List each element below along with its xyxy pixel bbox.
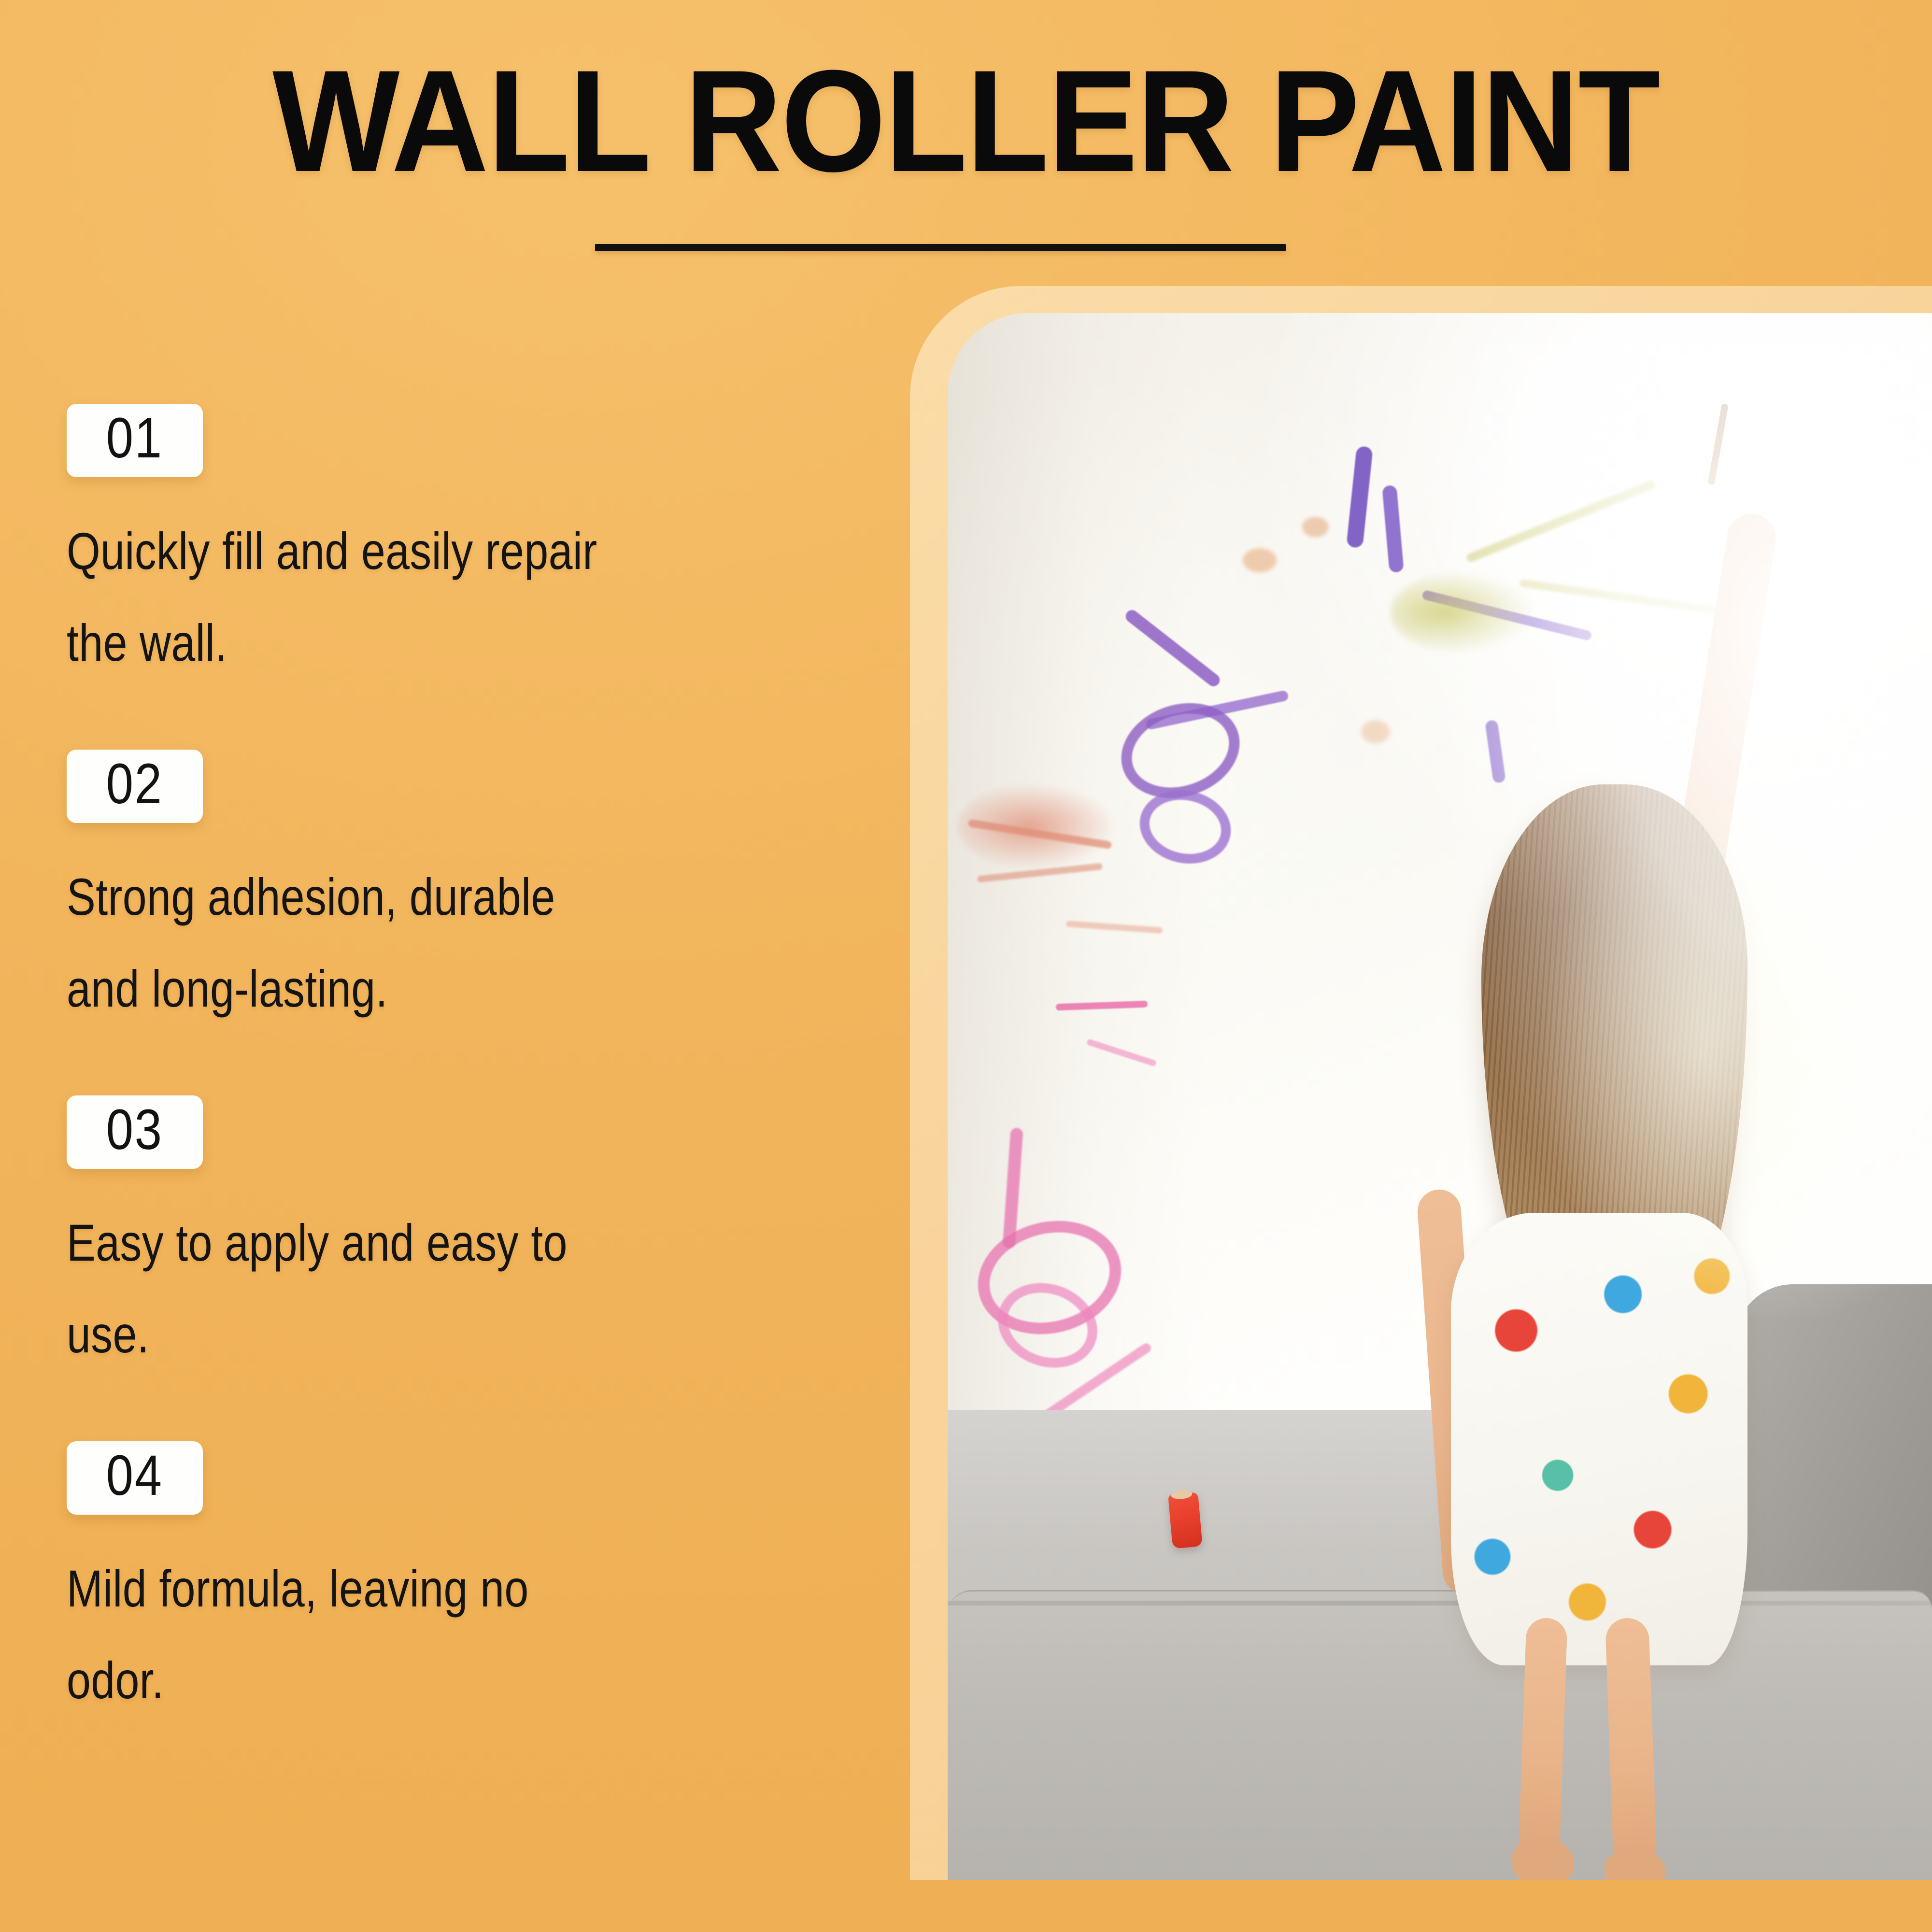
feature-number-badge: 01	[67, 404, 203, 477]
feature-item-01: 01 Quickly fill and easily repair the wa…	[67, 404, 888, 689]
red-crayon	[1168, 1492, 1203, 1549]
page-title: WALL ROLLER PAINT	[68, 58, 1864, 184]
feature-number-badge: 04	[67, 1441, 203, 1515]
foot	[1605, 1850, 1666, 1880]
feature-item-04: 04 Mild formula, leaving no odor.	[67, 1441, 888, 1726]
leg	[1519, 1617, 1568, 1857]
foot	[1512, 1838, 1574, 1880]
olive-scribble	[1391, 571, 1535, 653]
title-underline-rule	[595, 244, 1286, 251]
feature-number: 02	[106, 755, 163, 812]
child-figure	[1420, 689, 1932, 1880]
feature-number: 04	[106, 1447, 163, 1504]
feature-description: Mild formula, leaving no odor.	[67, 1543, 724, 1726]
orange-speck	[1302, 517, 1329, 537]
feature-number-badge: 03	[67, 1095, 203, 1169]
feature-item-02: 02 Strong adhesion, durable and long-las…	[67, 750, 888, 1035]
feature-number-badge: 02	[67, 750, 203, 823]
feature-description: Quickly fill and easily repair the wall.	[67, 505, 724, 689]
header: WALL ROLLER PAINT	[0, 0, 1932, 299]
orange-speck	[1243, 548, 1277, 572]
feature-description: Easy to apply and easy to use.	[67, 1197, 724, 1380]
feature-number: 03	[106, 1101, 163, 1158]
feature-number: 01	[106, 410, 163, 467]
leg	[1605, 1617, 1657, 1869]
feature-description: Strong adhesion, durable and long-lastin…	[67, 851, 724, 1035]
feature-item-03: 03 Easy to apply and easy to use.	[67, 1095, 888, 1380]
child-drawing-on-wall-photo	[948, 313, 1932, 1880]
feature-list: 01 Quickly fill and easily repair the wa…	[67, 404, 888, 1833]
floral-dress	[1451, 1213, 1748, 1665]
photo-panel-frame	[910, 286, 1932, 1880]
